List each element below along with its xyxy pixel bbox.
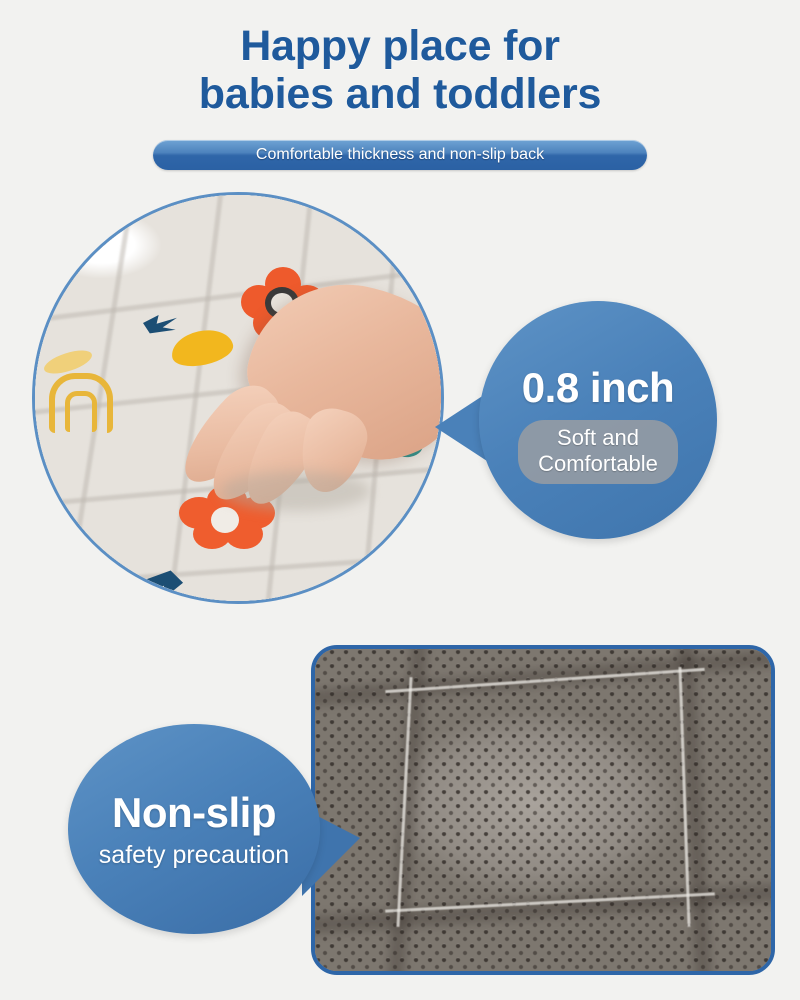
subtitle-text: Comfortable thickness and non-slip back — [256, 146, 544, 164]
nonslip-subtitle: safety precaution — [99, 841, 289, 870]
page-title: Happy place for babies and toddlers — [0, 22, 800, 118]
soft-pill-line-1: Soft and — [538, 425, 658, 451]
header: Happy place for babies and toddlers — [0, 22, 800, 118]
soft-comfortable-pill: Soft and Comfortable — [518, 420, 678, 484]
title-line-2: babies and toddlers — [0, 70, 800, 118]
press-shadow — [221, 471, 371, 511]
bubble-content: 0.8 inch Soft and Comfortable — [479, 301, 717, 539]
title-line-1: Happy place for — [0, 22, 800, 70]
mattress-photo-inner — [35, 195, 441, 601]
thickness-callout-bubble: 0.8 inch Soft and Comfortable — [479, 301, 717, 539]
product-feature-image: Happy place for babies and toddlers Comf… — [0, 0, 800, 1000]
soft-pill-line-2: Comfortable — [538, 451, 658, 477]
line-art-motif — [39, 347, 131, 433]
nonslip-backing-photo — [311, 645, 775, 975]
nonslip-title: Non-slip — [112, 789, 276, 837]
leaf-motif — [135, 571, 205, 601]
nonslip-callout-bubble: Non-slip safety precaution — [68, 724, 320, 934]
carrot-motif — [143, 311, 253, 373]
grip-dots-pattern-offset — [315, 649, 771, 971]
mattress-closeup-photo — [32, 192, 444, 604]
subtitle-banner: Comfortable thickness and non-slip back — [153, 140, 647, 170]
bubble-content: Non-slip safety precaution — [68, 724, 320, 934]
thickness-value: 0.8 inch — [522, 364, 674, 412]
